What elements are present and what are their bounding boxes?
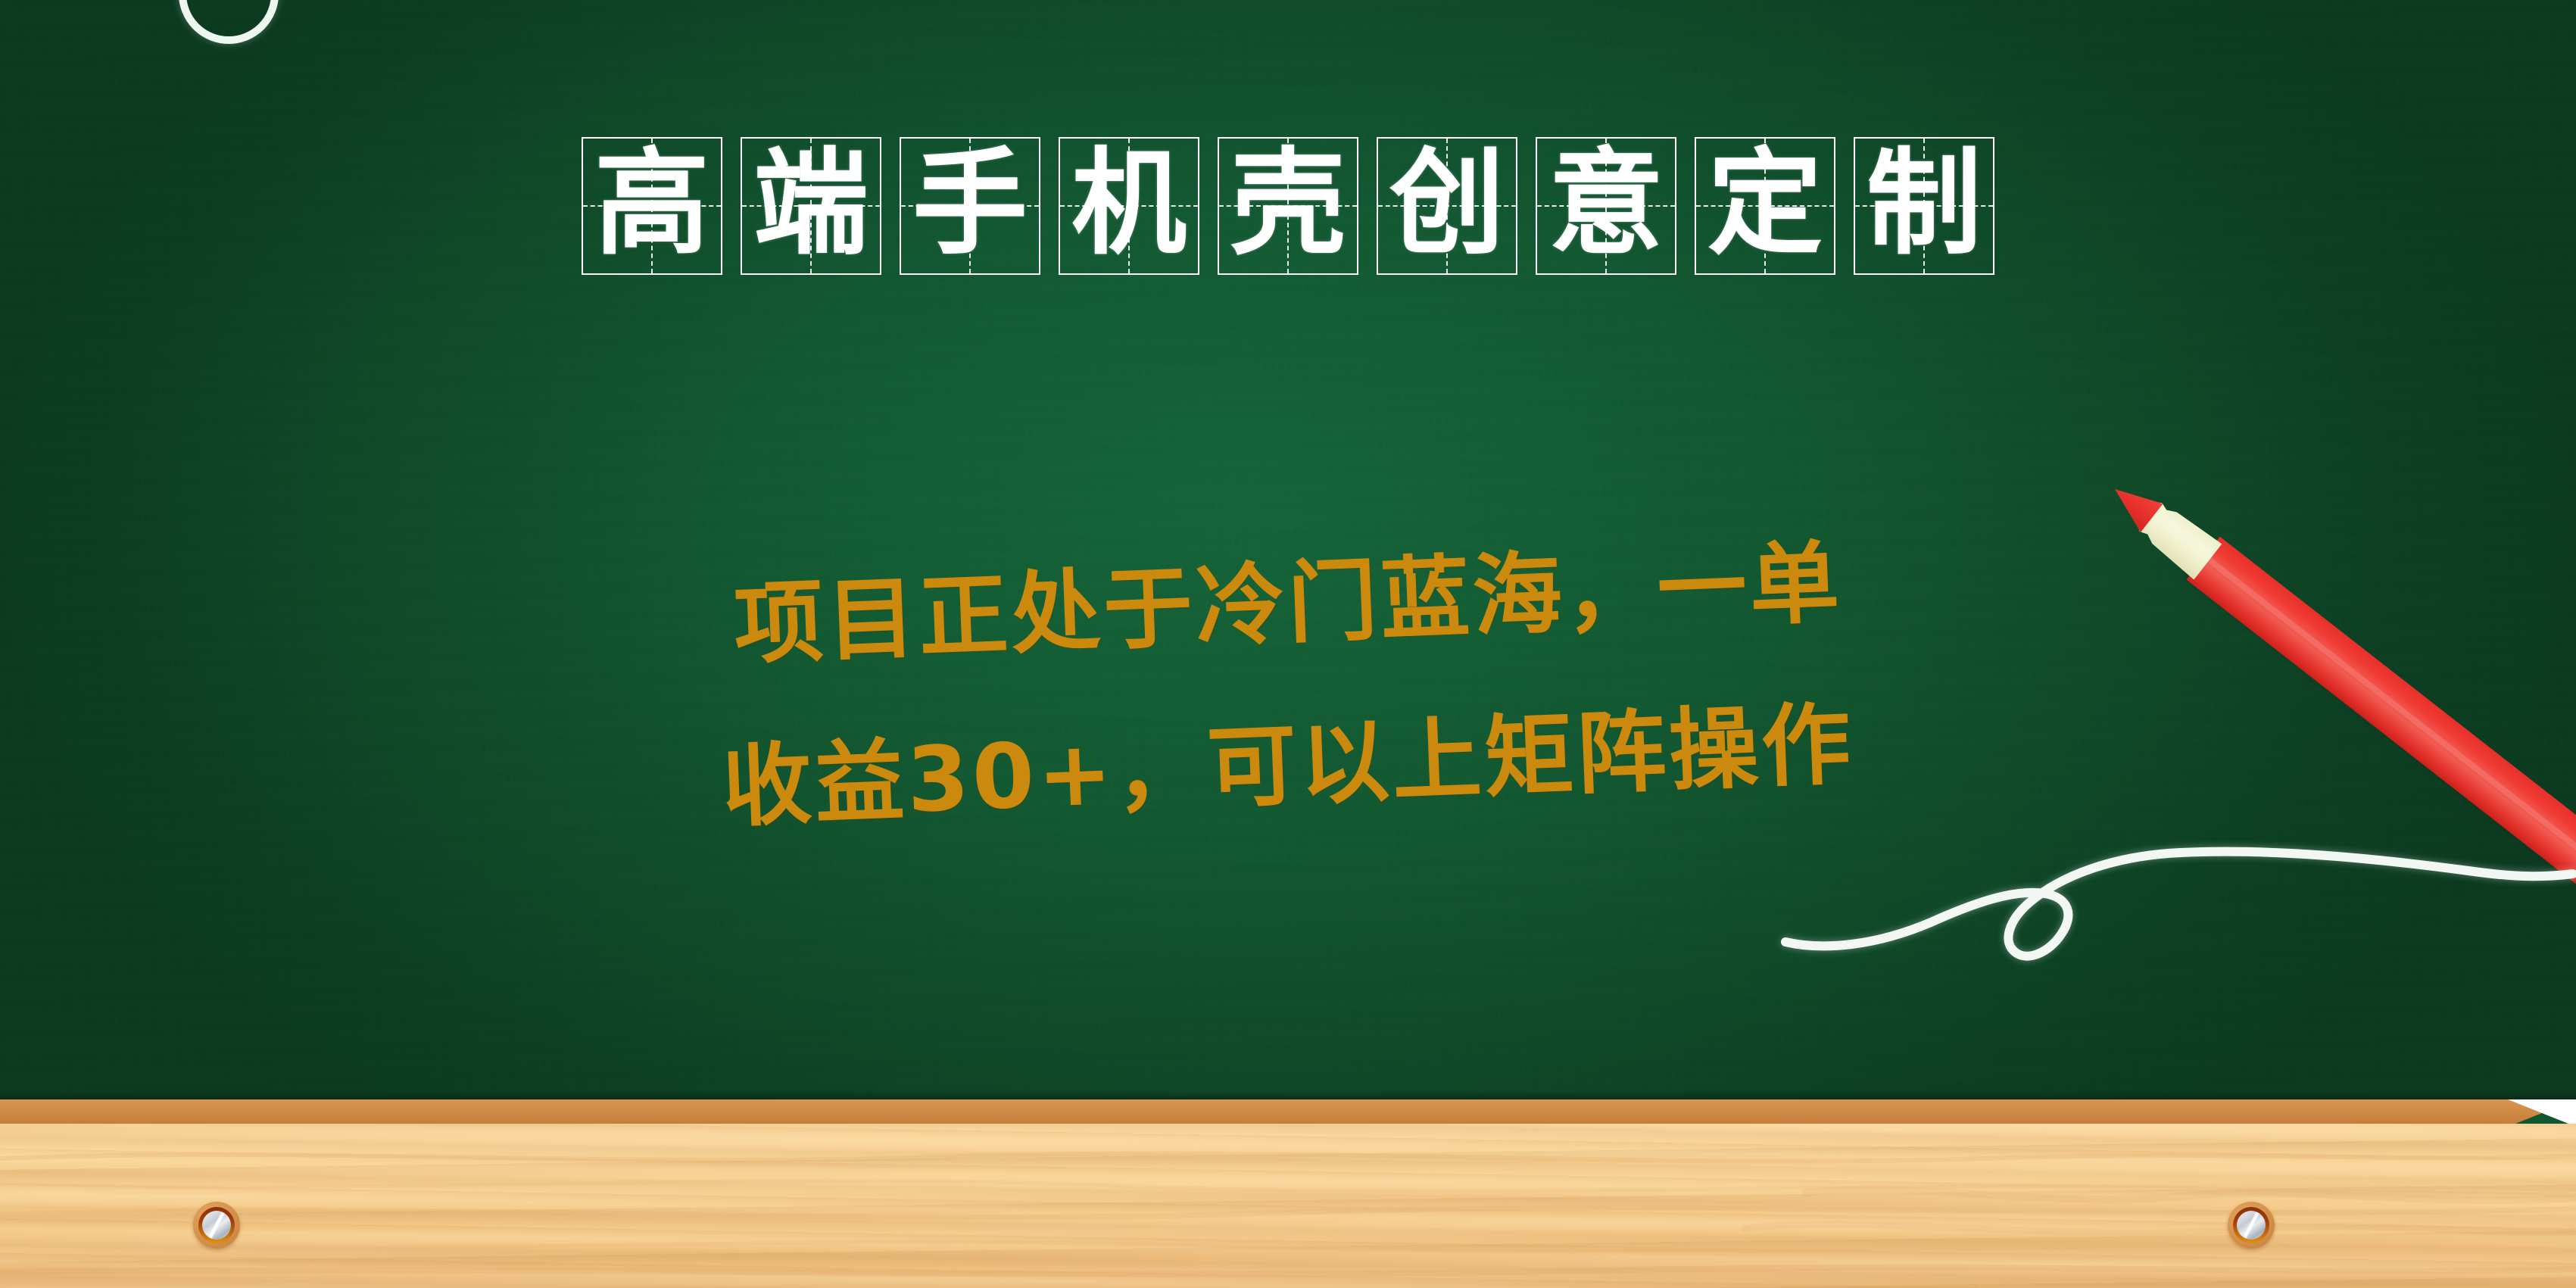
ledge-screw-left bbox=[193, 1202, 240, 1249]
page-title: 高 端 手 机 壳 创 意 bbox=[0, 137, 2576, 275]
chalkboard-poster: 高 端 手 机 壳 创 意 bbox=[0, 0, 2576, 1288]
title-grid-cell: 定 bbox=[1695, 137, 1835, 275]
title-grid-cell: 创 bbox=[1377, 137, 1517, 275]
title-grid-cell: 意 bbox=[1536, 137, 1676, 275]
title-char: 壳 bbox=[1230, 146, 1346, 261]
ledge-bevel bbox=[0, 1099, 2576, 1125]
title-grid-cell: 壳 bbox=[1218, 137, 1358, 275]
title-grid-cell: 制 bbox=[1854, 137, 1994, 275]
title-grid-cell: 高 bbox=[582, 137, 722, 275]
title-char: 机 bbox=[1071, 146, 1187, 261]
title-char: 端 bbox=[753, 146, 869, 261]
title-char: 高 bbox=[594, 146, 709, 261]
ledge-wood-face bbox=[0, 1124, 2576, 1288]
wooden-chalk-ledge bbox=[0, 1099, 2576, 1288]
title-char: 手 bbox=[912, 146, 1028, 261]
title-char: 创 bbox=[1389, 146, 1505, 261]
title-char: 意 bbox=[1548, 146, 1664, 261]
title-char: 制 bbox=[1867, 146, 1982, 261]
title-grid-cell: 机 bbox=[1059, 137, 1199, 275]
ledge-screw-right bbox=[2228, 1202, 2275, 1249]
title-grid-cell: 手 bbox=[900, 137, 1040, 275]
title-char: 定 bbox=[1707, 146, 1823, 261]
title-grid-cell: 端 bbox=[741, 137, 881, 275]
